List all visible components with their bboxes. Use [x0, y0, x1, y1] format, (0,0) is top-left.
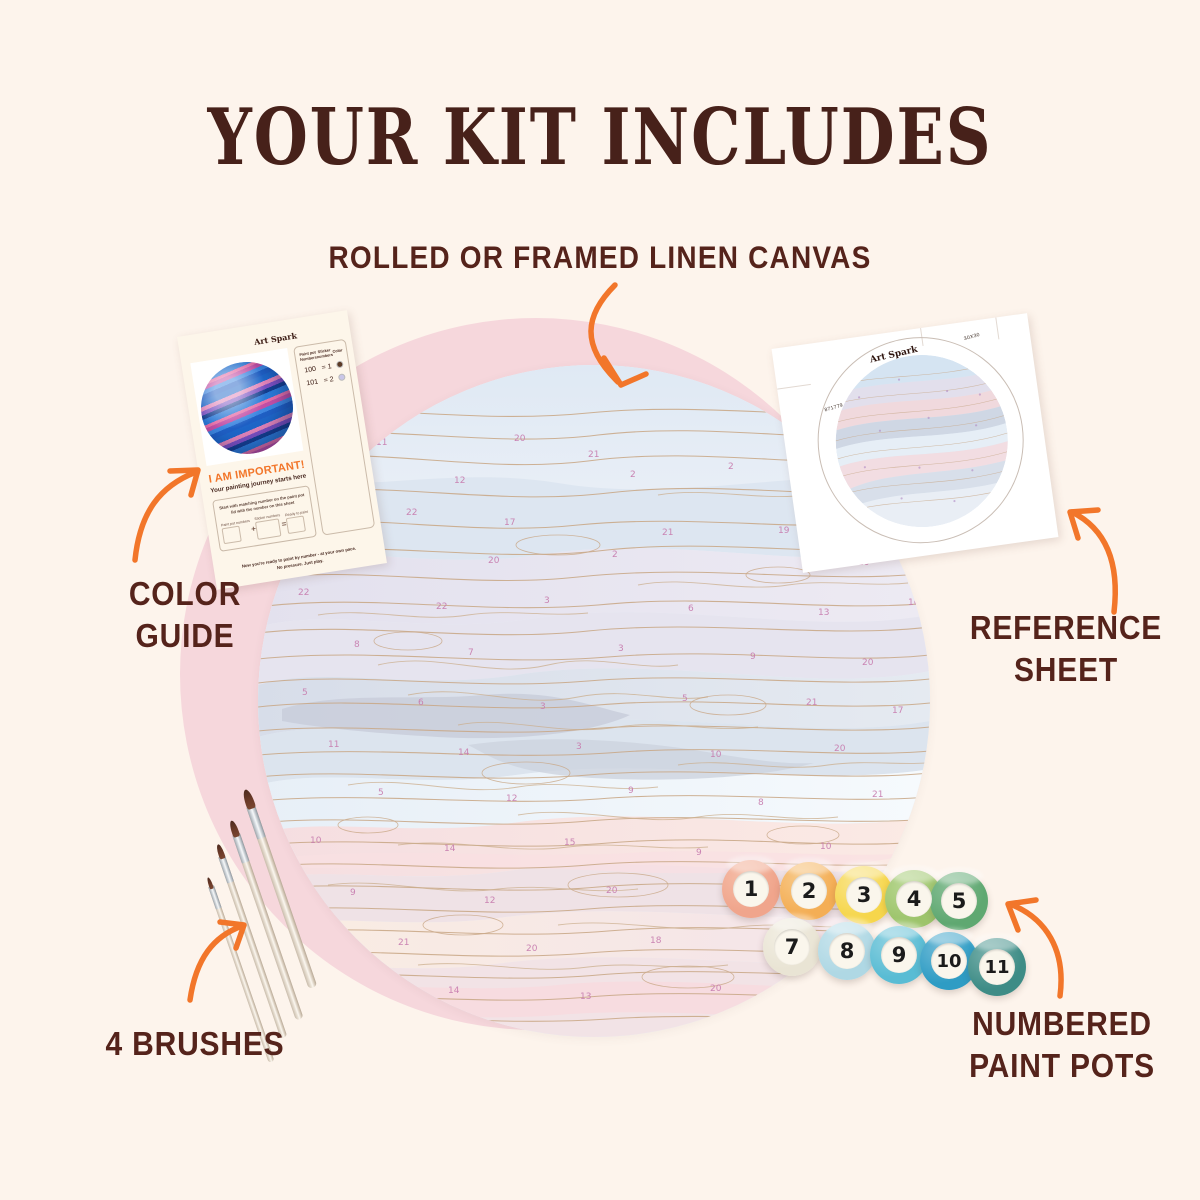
callout-brushes: 4 BRUSHES: [60, 1024, 330, 1066]
arrow-to-color-guide: [135, 470, 198, 560]
planet-preview-frame: [190, 348, 303, 466]
cell-color: [336, 371, 348, 385]
svg-text:3: 3: [544, 596, 550, 606]
callout-brushes-label: 4 BRUSHES: [106, 1026, 285, 1062]
svg-text:20: 20: [526, 944, 538, 954]
svg-text:2: 2: [630, 470, 636, 480]
planet-preview-image: [194, 355, 299, 460]
svg-text:7: 7: [468, 648, 474, 658]
paint-pot-2[interactable]: 2: [780, 862, 838, 920]
svg-text:10: 10: [710, 750, 722, 760]
callout-reference-sheet-label: REFERENCESHEET: [970, 610, 1162, 689]
svg-text:14: 14: [448, 986, 460, 996]
paint-pot-number: 1: [733, 871, 769, 907]
svg-text:16: 16: [908, 598, 920, 608]
svg-text:10: 10: [820, 842, 832, 852]
reference-sheet-card[interactable]: Art Spark 871779 30X30: [772, 313, 1059, 573]
svg-text:22: 22: [406, 508, 417, 518]
paint-pot-number: 8: [829, 933, 865, 969]
paint-pot-number: 3: [846, 877, 882, 913]
svg-text:3: 3: [540, 702, 546, 712]
svg-text:18: 18: [650, 936, 662, 946]
paint-pot-number: 11: [979, 949, 1015, 985]
sticker-chip-icon: [255, 518, 282, 540]
svg-text:21: 21: [806, 698, 817, 708]
paint-pot-5[interactable]: 5: [930, 872, 988, 930]
svg-text:10: 10: [310, 836, 322, 846]
svg-text:2: 2: [728, 462, 734, 472]
svg-text:5: 5: [378, 788, 384, 798]
svg-text:8: 8: [758, 798, 764, 808]
color-guide-table: Paint pot Numbers Sticker numbers Color …: [299, 346, 348, 391]
svg-text:9: 9: [696, 848, 702, 858]
callout-paint-pots: NUMBEREDPAINT POTS: [928, 1004, 1196, 1088]
svg-text:6: 6: [688, 604, 694, 614]
paint-pot-number: 9: [881, 937, 917, 973]
svg-text:3: 3: [576, 742, 582, 752]
cell-sticker: = 2: [320, 373, 338, 388]
callout-reference-sheet: REFERENCESHEET: [944, 608, 1188, 692]
color-swatch: [338, 374, 346, 382]
paint-pot-8[interactable]: 8: [818, 922, 876, 980]
paint-pot-chip-icon: [222, 526, 242, 545]
paint-pot-9[interactable]: 9: [870, 926, 928, 984]
svg-text:20: 20: [862, 658, 874, 668]
svg-text:14: 14: [444, 844, 456, 854]
svg-text:12: 12: [506, 794, 517, 804]
canvas-callout-label: ROLLED OR FRAMED LINEN CANVAS: [0, 240, 1200, 276]
svg-text:14: 14: [458, 748, 470, 758]
callout-color-guide-label: COLORGUIDE: [129, 576, 241, 655]
svg-text:15: 15: [564, 838, 575, 848]
svg-text:9: 9: [750, 652, 756, 662]
paint-pot-number: 5: [941, 883, 977, 919]
paint-pot-11[interactable]: 11: [968, 938, 1026, 996]
paint-pot-number: 7: [774, 929, 810, 965]
color-guide-instruction-box: Start with matching number on the paint …: [212, 485, 317, 552]
svg-text:21: 21: [588, 450, 599, 460]
poster-root: YOUR KIT INCLUDES ROLLED OR FRAMED LINEN…: [0, 0, 1200, 1200]
svg-text:9: 9: [628, 786, 634, 796]
callout-paint-pots-label: NUMBEREDPAINT POTS: [969, 1006, 1155, 1085]
cell-pot: 101: [303, 376, 322, 391]
svg-text:6: 6: [418, 698, 424, 708]
svg-text:9: 9: [350, 888, 356, 898]
page-title: YOUR KIT INCLUDES: [18, 92, 1182, 184]
svg-text:22: 22: [436, 602, 447, 612]
svg-text:17: 17: [892, 706, 903, 716]
svg-text:20: 20: [514, 434, 526, 444]
paint-pot-number: 2: [791, 873, 827, 909]
svg-text:13: 13: [580, 992, 591, 1002]
svg-text:21: 21: [872, 790, 883, 800]
arrow-to-reference-sheet: [1070, 510, 1115, 612]
brush-bristles: [206, 877, 214, 890]
paint-pot-7[interactable]: 7: [763, 918, 821, 976]
paint-pot-number: 10: [931, 943, 967, 979]
crop-mark-top2: [995, 317, 999, 339]
paint-pot-1[interactable]: 1: [722, 860, 780, 918]
reference-code-right: 30X30: [963, 332, 980, 342]
svg-text:5: 5: [302, 688, 308, 698]
svg-text:20: 20: [488, 556, 500, 566]
svg-text:20: 20: [710, 984, 722, 994]
svg-text:12: 12: [484, 896, 495, 906]
svg-text:20: 20: [834, 744, 846, 754]
svg-text:21: 21: [398, 938, 409, 948]
crop-mark-left: [777, 384, 811, 390]
svg-text:5: 5: [682, 694, 688, 704]
svg-text:17: 17: [504, 518, 515, 528]
svg-text:20: 20: [606, 886, 618, 896]
svg-text:2: 2: [612, 550, 618, 560]
svg-text:13: 13: [818, 608, 829, 618]
ready-chip-icon: [286, 516, 306, 535]
svg-text:19: 19: [778, 526, 790, 536]
svg-text:12: 12: [454, 476, 465, 486]
svg-text:21: 21: [662, 528, 673, 538]
callout-color-guide: COLORGUIDE: [70, 574, 300, 658]
svg-text:11: 11: [328, 740, 339, 750]
svg-text:8: 8: [354, 640, 360, 650]
color-swatch: [336, 361, 344, 369]
svg-text:3: 3: [618, 644, 624, 654]
svg-text:15: 15: [818, 994, 829, 1004]
paint-pot-number: 4: [896, 881, 932, 917]
